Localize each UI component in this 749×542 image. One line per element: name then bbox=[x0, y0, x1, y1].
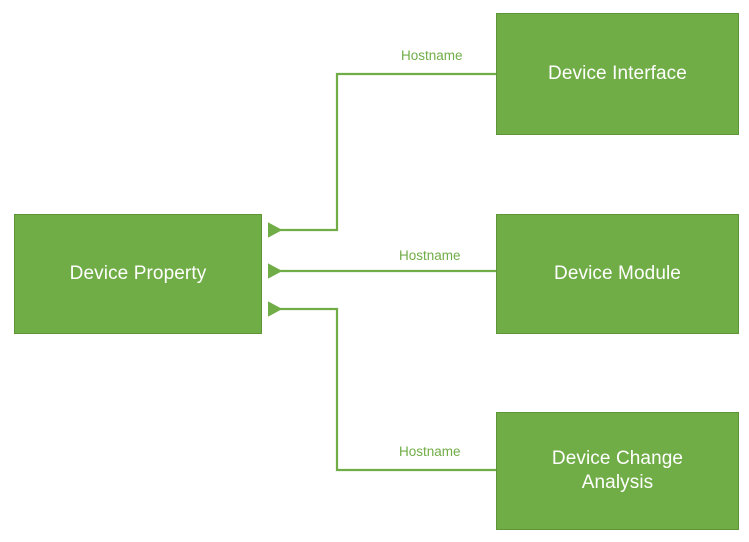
edge-label-change-analysis-to-property: Hostname bbox=[396, 444, 464, 460]
edge-label-module-to-property: Hostname bbox=[396, 248, 464, 264]
edge-label-interface-to-property: Hostname bbox=[398, 48, 466, 64]
node-label-device-change-analysis: Device Change Analysis bbox=[544, 447, 691, 496]
diagram-canvas: Device Property Device Interface Device … bbox=[0, 0, 749, 542]
edge-interface-to-property bbox=[268, 74, 496, 230]
node-label-device-interface: Device Interface bbox=[540, 62, 695, 86]
node-label-device-property: Device Property bbox=[62, 262, 215, 286]
node-device-change-analysis[interactable]: Device Change Analysis bbox=[496, 412, 739, 530]
node-device-module[interactable]: Device Module bbox=[496, 214, 739, 334]
node-device-interface[interactable]: Device Interface bbox=[496, 13, 739, 135]
node-device-property[interactable]: Device Property bbox=[14, 214, 262, 334]
node-label-device-module: Device Module bbox=[546, 262, 689, 286]
